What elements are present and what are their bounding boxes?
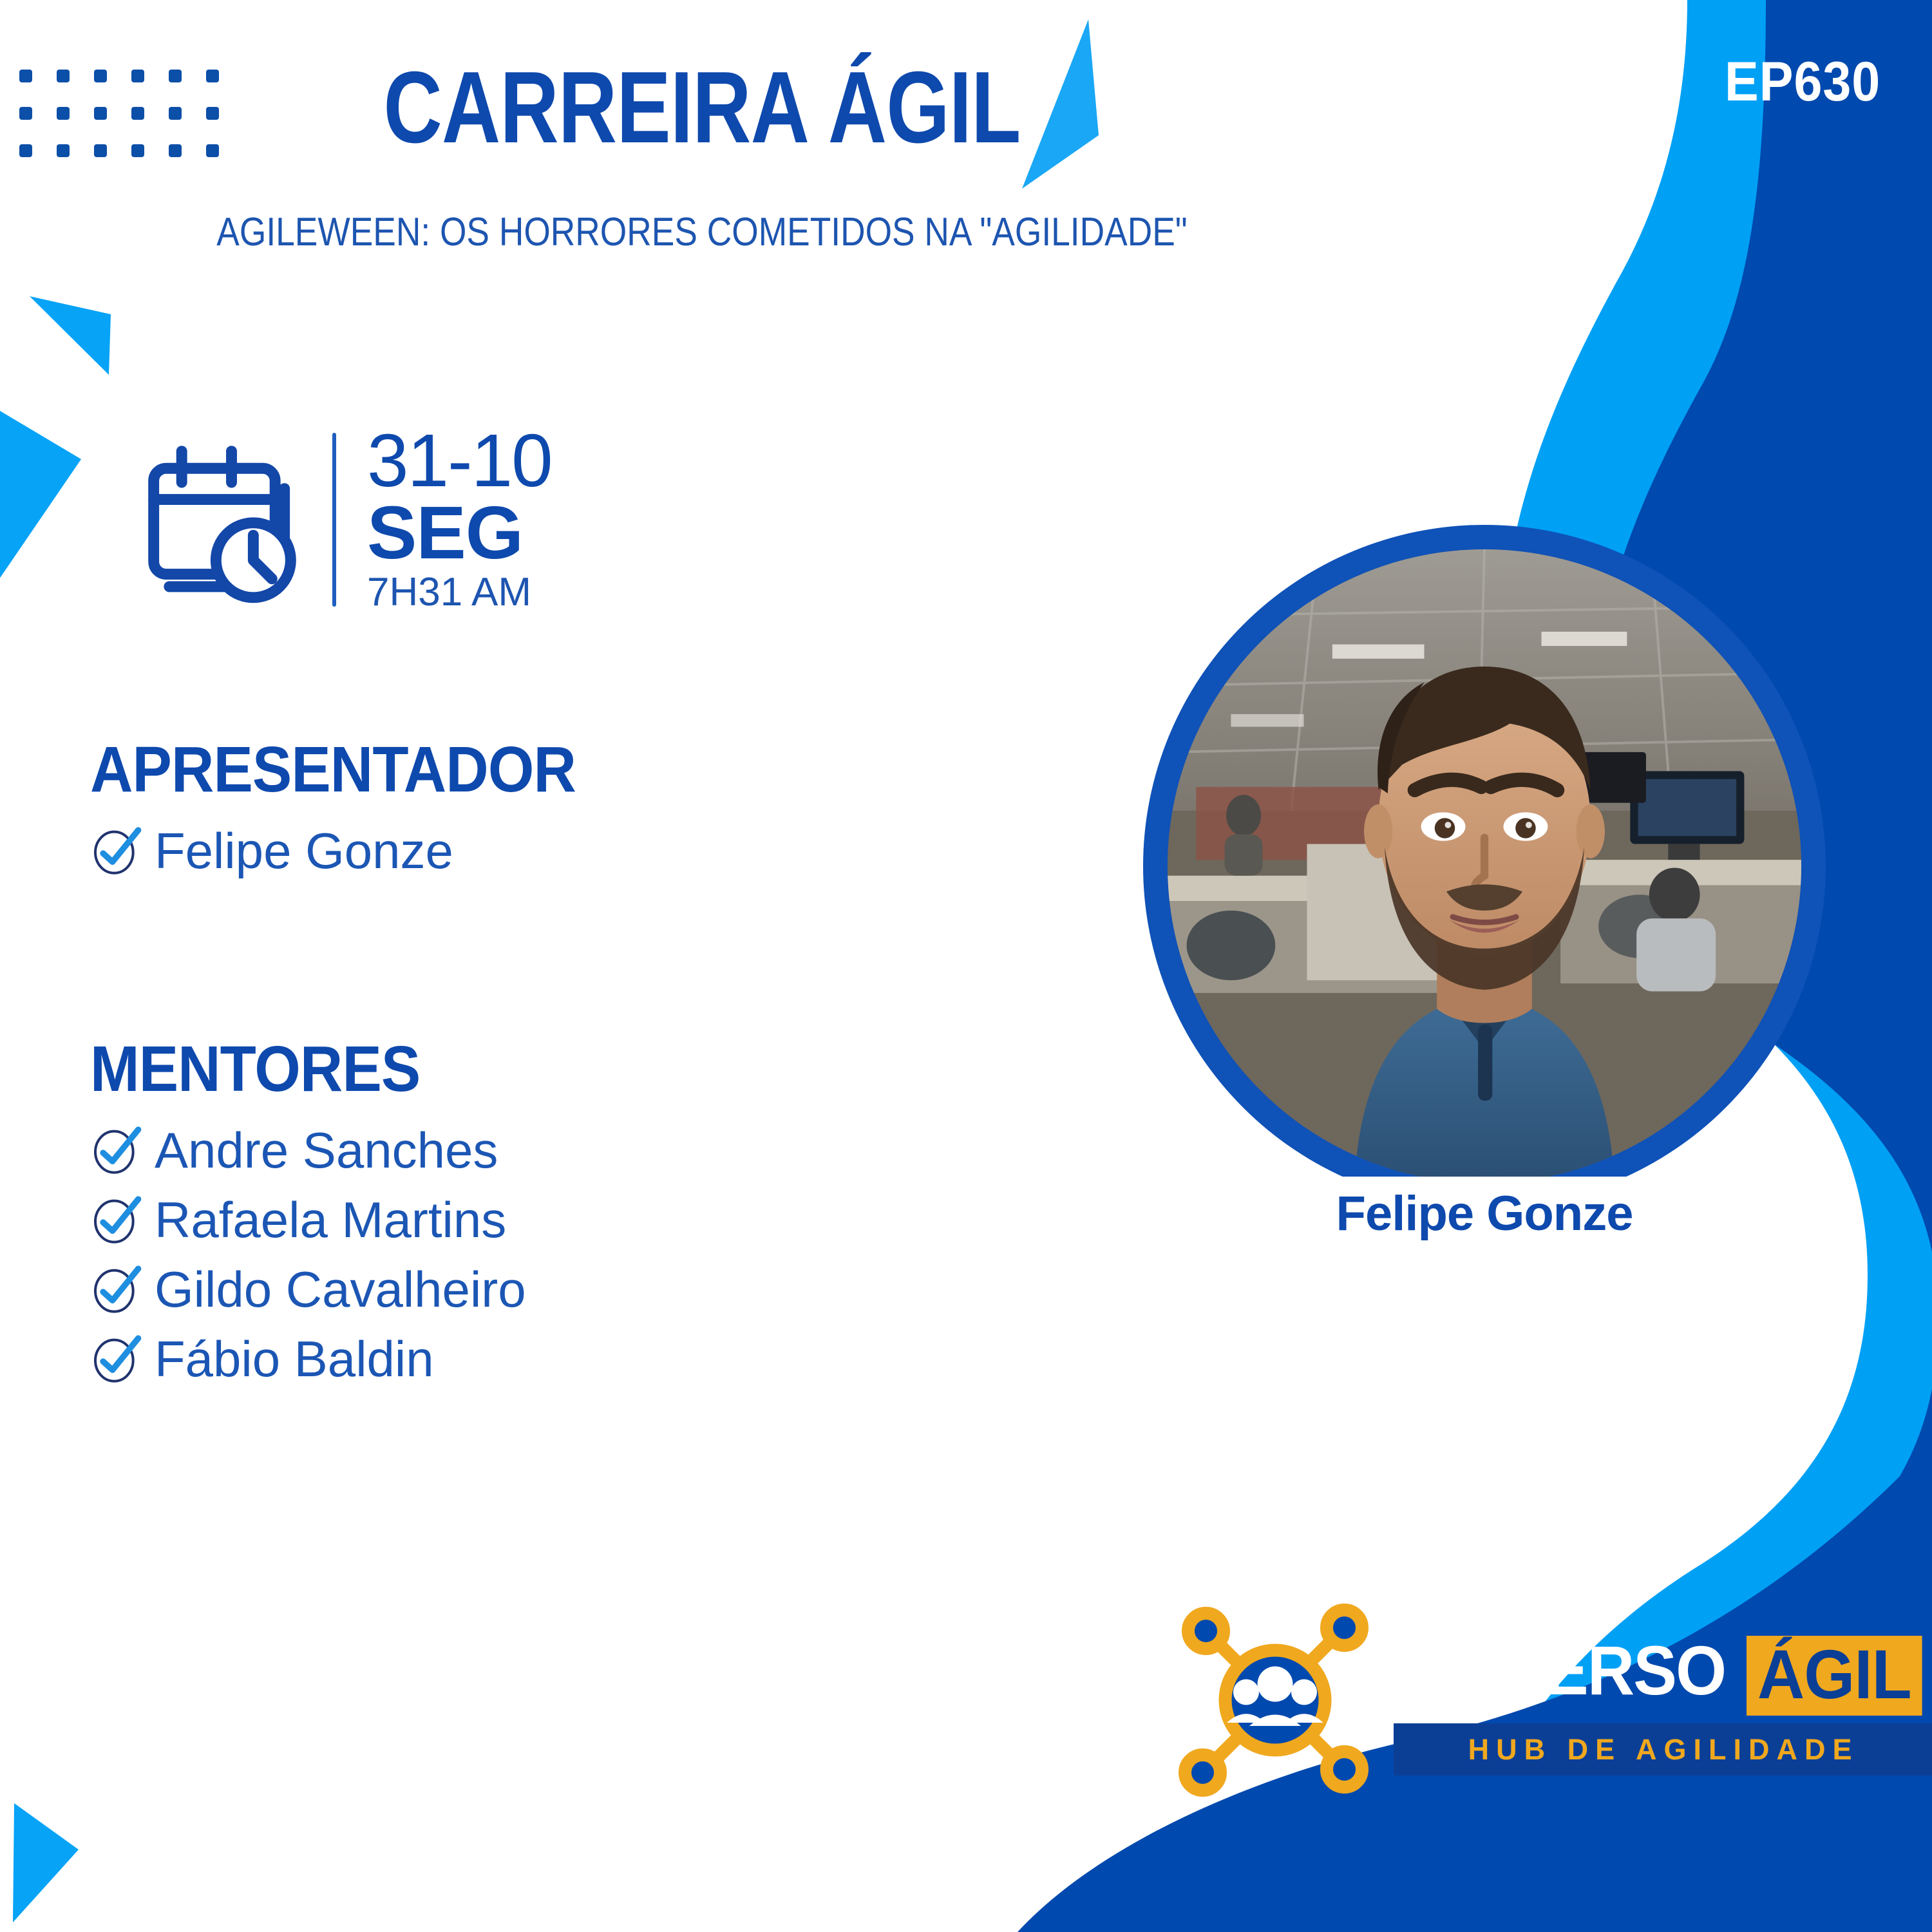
list-item: Rafaela Martins bbox=[90, 1190, 526, 1249]
mentor-name: Andre Sanches bbox=[155, 1121, 498, 1180]
check-circle-icon bbox=[90, 1124, 142, 1176]
avatar-name-banner: Felipe Gonze bbox=[1278, 1177, 1690, 1260]
brand-tagline-bar: HUB DE AGILIDADE bbox=[1394, 1723, 1932, 1776]
calendar-clock-icon bbox=[129, 426, 316, 613]
mentors-heading: MENTORES bbox=[90, 1037, 491, 1101]
check-circle-icon bbox=[90, 825, 142, 876]
check-circle-icon bbox=[90, 1194, 142, 1245]
list-item: Andre Sanches bbox=[90, 1121, 526, 1180]
brand-logo: UNIVERSO ÁGIL HUB DE AGILIDADE bbox=[1179, 1604, 1932, 1797]
list-item: Gildo Cavalheiro bbox=[90, 1260, 526, 1319]
list-item: Fábio Baldin bbox=[90, 1329, 526, 1388]
schedule-weekday: SEG bbox=[367, 497, 552, 570]
arrow-accent-icon-bottom-left bbox=[13, 1803, 79, 1922]
episode-badge: EP630 bbox=[1725, 50, 1880, 114]
presenter-section: APRESENTADOR Felipe Gonze bbox=[90, 737, 618, 880]
mentor-name: Rafaela Martins bbox=[155, 1190, 506, 1249]
avatar-name: Felipe Gonze bbox=[1336, 1186, 1633, 1242]
presenter-name: Felipe Gonze bbox=[155, 821, 453, 880]
presenter-heading: APRESENTADOR bbox=[90, 737, 576, 802]
check-circle-icon bbox=[90, 1264, 142, 1315]
brand-tagline: HUB DE AGILIDADE bbox=[1468, 1733, 1859, 1766]
page-title: CARREIRA ÁGIL bbox=[140, 57, 1264, 158]
brand-word-accent: ÁGIL bbox=[1747, 1636, 1922, 1716]
schedule-date: 31-10 bbox=[367, 425, 552, 497]
list-item: Felipe Gonze bbox=[90, 821, 618, 880]
schedule-divider bbox=[332, 433, 336, 607]
page-subtitle: AGILEWEEN: OS HORRORES COMETIDOS NA "AGI… bbox=[99, 213, 1306, 252]
avatar-photo bbox=[1168, 549, 1801, 1183]
poster-canvas: CARREIRA ÁGIL AGILEWEEN: OS HORRORES COM… bbox=[0, 0, 1932, 1932]
schedule-time: 7H31 AM bbox=[367, 570, 552, 614]
brand-word-primary: UNIVERSO bbox=[1394, 1636, 1725, 1716]
arrow-accent-icon-left-upper bbox=[30, 296, 111, 375]
schedule-block: 31-10 SEG 7H31 AM bbox=[129, 425, 552, 614]
check-circle-icon bbox=[90, 1333, 142, 1385]
arrow-accent-icon-left-lower bbox=[0, 407, 81, 587]
mentor-name: Fábio Baldin bbox=[155, 1329, 434, 1388]
avatar: Felipe Gonze bbox=[1143, 525, 1826, 1207]
mentor-name: Gildo Cavalheiro bbox=[155, 1260, 526, 1319]
network-people-icon bbox=[1179, 1604, 1372, 1797]
mentors-section: MENTORES Andre Sanches Rafaela Martins G… bbox=[90, 1037, 526, 1388]
